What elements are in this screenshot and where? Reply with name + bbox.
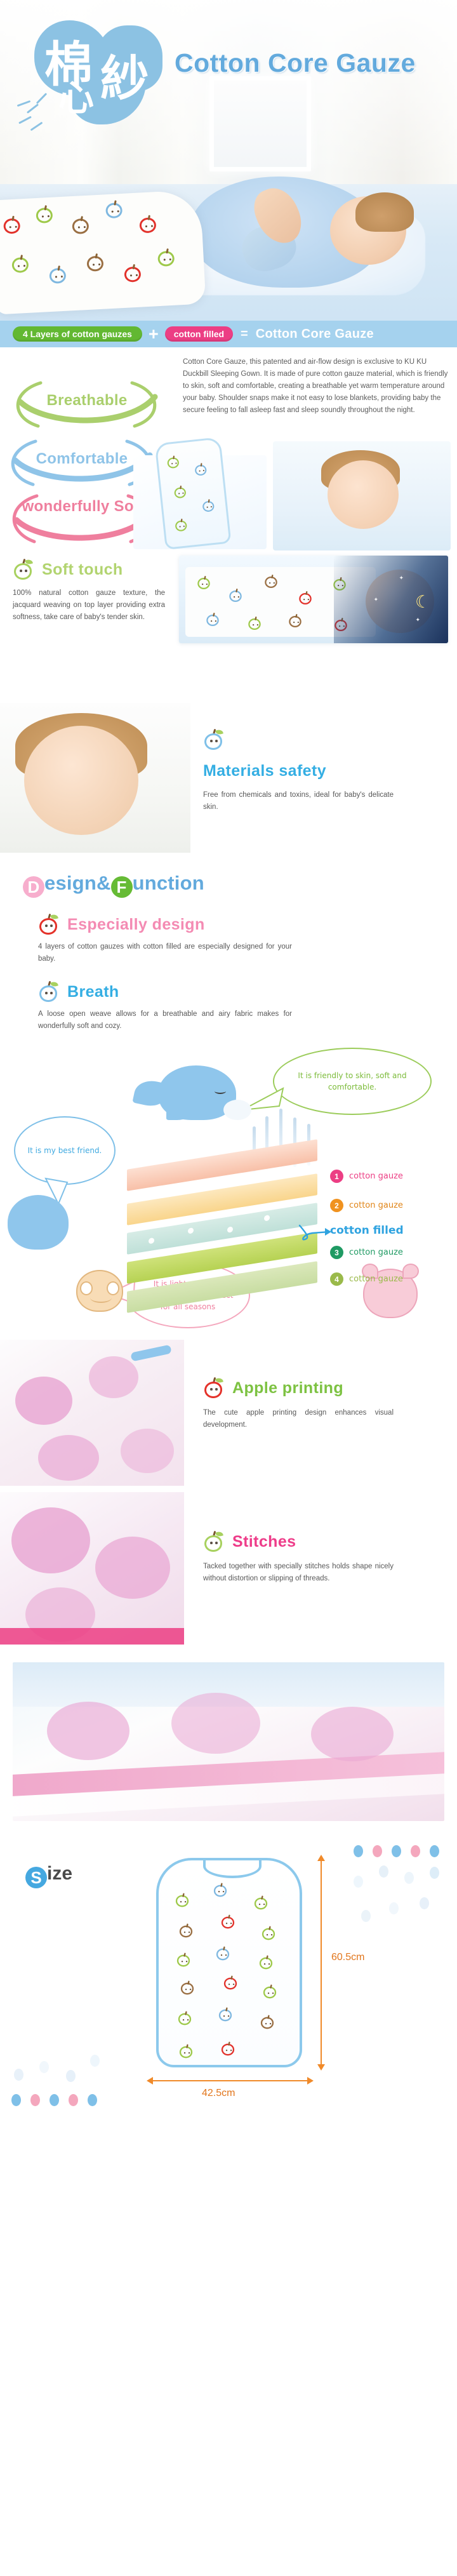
layer-label: cotton gauze xyxy=(349,1201,403,1210)
layer-label: cotton gauze xyxy=(349,1248,403,1257)
duck-mascot xyxy=(76,1270,123,1312)
apple-printing-photo xyxy=(0,1340,184,1486)
stitches-photo xyxy=(0,1492,184,1645)
intro-section: Cotton Core Gauze, this patented and air… xyxy=(0,347,457,551)
size-product-photo xyxy=(156,1858,302,2067)
badge-four-layers: 4 Layers of cotton gauzes xyxy=(13,326,142,342)
layer-diagram: It is friendly to skin, soft and comfort… xyxy=(0,1041,457,1340)
soft-touch-text-block: Soft touch 100% natural cotton gauze tex… xyxy=(13,559,165,624)
width-dimension-arrow xyxy=(152,2080,308,2081)
plus-icon: + xyxy=(149,326,159,343)
pig-ear-right xyxy=(402,1264,419,1279)
cotton-filled-callout: cotton filled xyxy=(330,1224,404,1237)
size-title-rest: ize xyxy=(47,1863,72,1884)
design-initial-d: D xyxy=(23,876,44,898)
apple-printing-section: Apple printing The cute apple printing d… xyxy=(0,1340,457,1492)
apple-green-icon xyxy=(13,559,34,580)
star-icon: ✦ xyxy=(415,617,420,624)
page-title: Cotton Core Gauze xyxy=(175,48,416,78)
brand-logo-stamp: 棉 心 紗 xyxy=(19,11,165,129)
product-closeup-photo xyxy=(13,1662,444,1821)
stitches-heading: Stitches xyxy=(203,1532,394,1552)
apple-blue-icon xyxy=(203,730,225,750)
materials-safety-photo xyxy=(0,703,190,853)
breath-body: A loose open weave allows for a breathab… xyxy=(38,1008,292,1032)
stitches-body: Tacked together with specially stitches … xyxy=(203,1561,394,1585)
duck-smile xyxy=(90,1293,112,1303)
especially-design-block: Especially design 4 layers of cotton gau… xyxy=(38,914,292,965)
apple-green-icon xyxy=(203,1532,225,1552)
size-section: Size 60.5cm 42.5cm xyxy=(0,1831,457,2120)
gauze-blanket-photo xyxy=(0,189,206,314)
materials-safety-text-block: Materials safety Free from chemicals and… xyxy=(203,730,394,813)
badge-breathable-label: Breathable xyxy=(8,392,166,410)
stitches-text-block: Stitches Tacked together with specially … xyxy=(203,1532,394,1585)
especially-design-heading: Especially design xyxy=(38,914,292,935)
layer-label: cotton gauze xyxy=(349,1171,403,1181)
soft-touch-title: Soft touch xyxy=(42,561,123,579)
badge-breathable: Breathable xyxy=(8,378,166,431)
layer-number: 1 xyxy=(330,1170,343,1183)
apple-printing-heading: Apple printing xyxy=(203,1378,394,1398)
stitches-section: Stitches Tacked together with specially … xyxy=(0,1492,457,1651)
apple-red-icon xyxy=(38,914,60,935)
friend-bubble: It is my best friend. xyxy=(14,1116,116,1185)
apple-printing-body: The cute apple printing design enhances … xyxy=(203,1407,394,1431)
apple-printing-title: Apple printing xyxy=(232,1379,343,1398)
size-title: Size xyxy=(25,1863,72,1888)
whale-eye xyxy=(215,1088,226,1094)
baby-photo-intro xyxy=(273,441,451,551)
intro-paragraph: Cotton Core Gauze, this patented and air… xyxy=(183,356,448,417)
layer-label: cotton gauze xyxy=(349,1274,403,1284)
layer-number: 4 xyxy=(330,1272,343,1286)
gauze-layer-stack xyxy=(127,1100,336,1290)
design-function-section: Design&Function Especially design 4 laye… xyxy=(0,855,457,1032)
star-icon: ✦ xyxy=(399,575,404,582)
baby-head xyxy=(328,460,399,529)
baby-head xyxy=(24,726,138,835)
especially-design-body: 4 layers of cotton gauzes with cotton fi… xyxy=(38,941,292,965)
legend-layer-3: 3 cotton gauze xyxy=(330,1246,403,1259)
legend-layer-1: 1 cotton gauze xyxy=(330,1170,403,1183)
stitches-title: Stitches xyxy=(232,1533,296,1551)
width-dimension-label: 42.5cm xyxy=(202,2088,235,2099)
materials-safety-title: Materials safety xyxy=(203,762,394,780)
product-photo-sleepgown xyxy=(155,437,232,550)
especially-design-title: Especially design xyxy=(67,916,205,934)
layer-number: 2 xyxy=(330,1199,343,1212)
layer-number: 3 xyxy=(330,1246,343,1259)
equation-bar: 4 Layers of cotton gauzes + cotton fille… xyxy=(0,321,457,347)
moon-icon: ☾ xyxy=(415,592,434,611)
apple-red-icon xyxy=(203,1378,225,1398)
soft-touch-photo: ☾ ✦ ✦ ✦ xyxy=(179,556,448,643)
height-dimension-label: 60.5cm xyxy=(331,1952,364,1963)
function-word: unction xyxy=(133,872,204,894)
soft-touch-body: 100% natural cotton gauze texture, the j… xyxy=(13,587,165,624)
apple-blue-icon xyxy=(38,982,60,1002)
whale-mascot-small xyxy=(8,1195,69,1250)
breath-heading: Breath xyxy=(38,982,292,1002)
breath-title: Breath xyxy=(67,983,119,1001)
function-initial-f: F xyxy=(111,876,133,898)
apple-printing-text-block: Apple printing The cute apple printing d… xyxy=(203,1378,394,1431)
star-icon: ✦ xyxy=(373,596,378,603)
height-dimension-arrow xyxy=(321,1860,322,2065)
hero-banner: 棉 心 紗 Cotton Core Gauze xyxy=(0,0,457,321)
product-detail-page: 棉 心 紗 Cotton Core Gauze 4 Layers of cott… xyxy=(0,0,457,2576)
breath-block: Breath A loose open weave allows for a b… xyxy=(38,982,292,1032)
baby-hair xyxy=(355,192,414,232)
badge-cotton-filled: cotton filled xyxy=(165,326,233,342)
design-function-title: Design&Function xyxy=(23,872,457,898)
legend-layer-2: 2 cotton gauze xyxy=(330,1199,403,1212)
materials-safety-body: Free from chemicals and toxins, ideal fo… xyxy=(203,789,394,813)
equation-result: Cotton Core Gauze xyxy=(256,327,374,342)
soft-touch-section: Soft touch 100% natural cotton gauze tex… xyxy=(0,551,457,703)
legend-layer-4: 4 cotton gauze xyxy=(330,1272,403,1286)
materials-safety-section: Materials safety Free from chemicals and… xyxy=(0,703,457,855)
equals-icon: = xyxy=(241,327,248,342)
logo-char-3: 紗 xyxy=(100,39,149,109)
materials-safety-icon-row xyxy=(203,730,394,753)
design-word: esign& xyxy=(44,872,111,894)
size-initial: S xyxy=(25,1867,47,1888)
product-neck-opening xyxy=(203,1858,262,1878)
cotton-filled-arrow-icon xyxy=(298,1223,333,1242)
window-decor xyxy=(209,76,311,171)
logo-rays xyxy=(22,74,66,135)
soft-touch-heading: Soft touch xyxy=(13,559,165,580)
